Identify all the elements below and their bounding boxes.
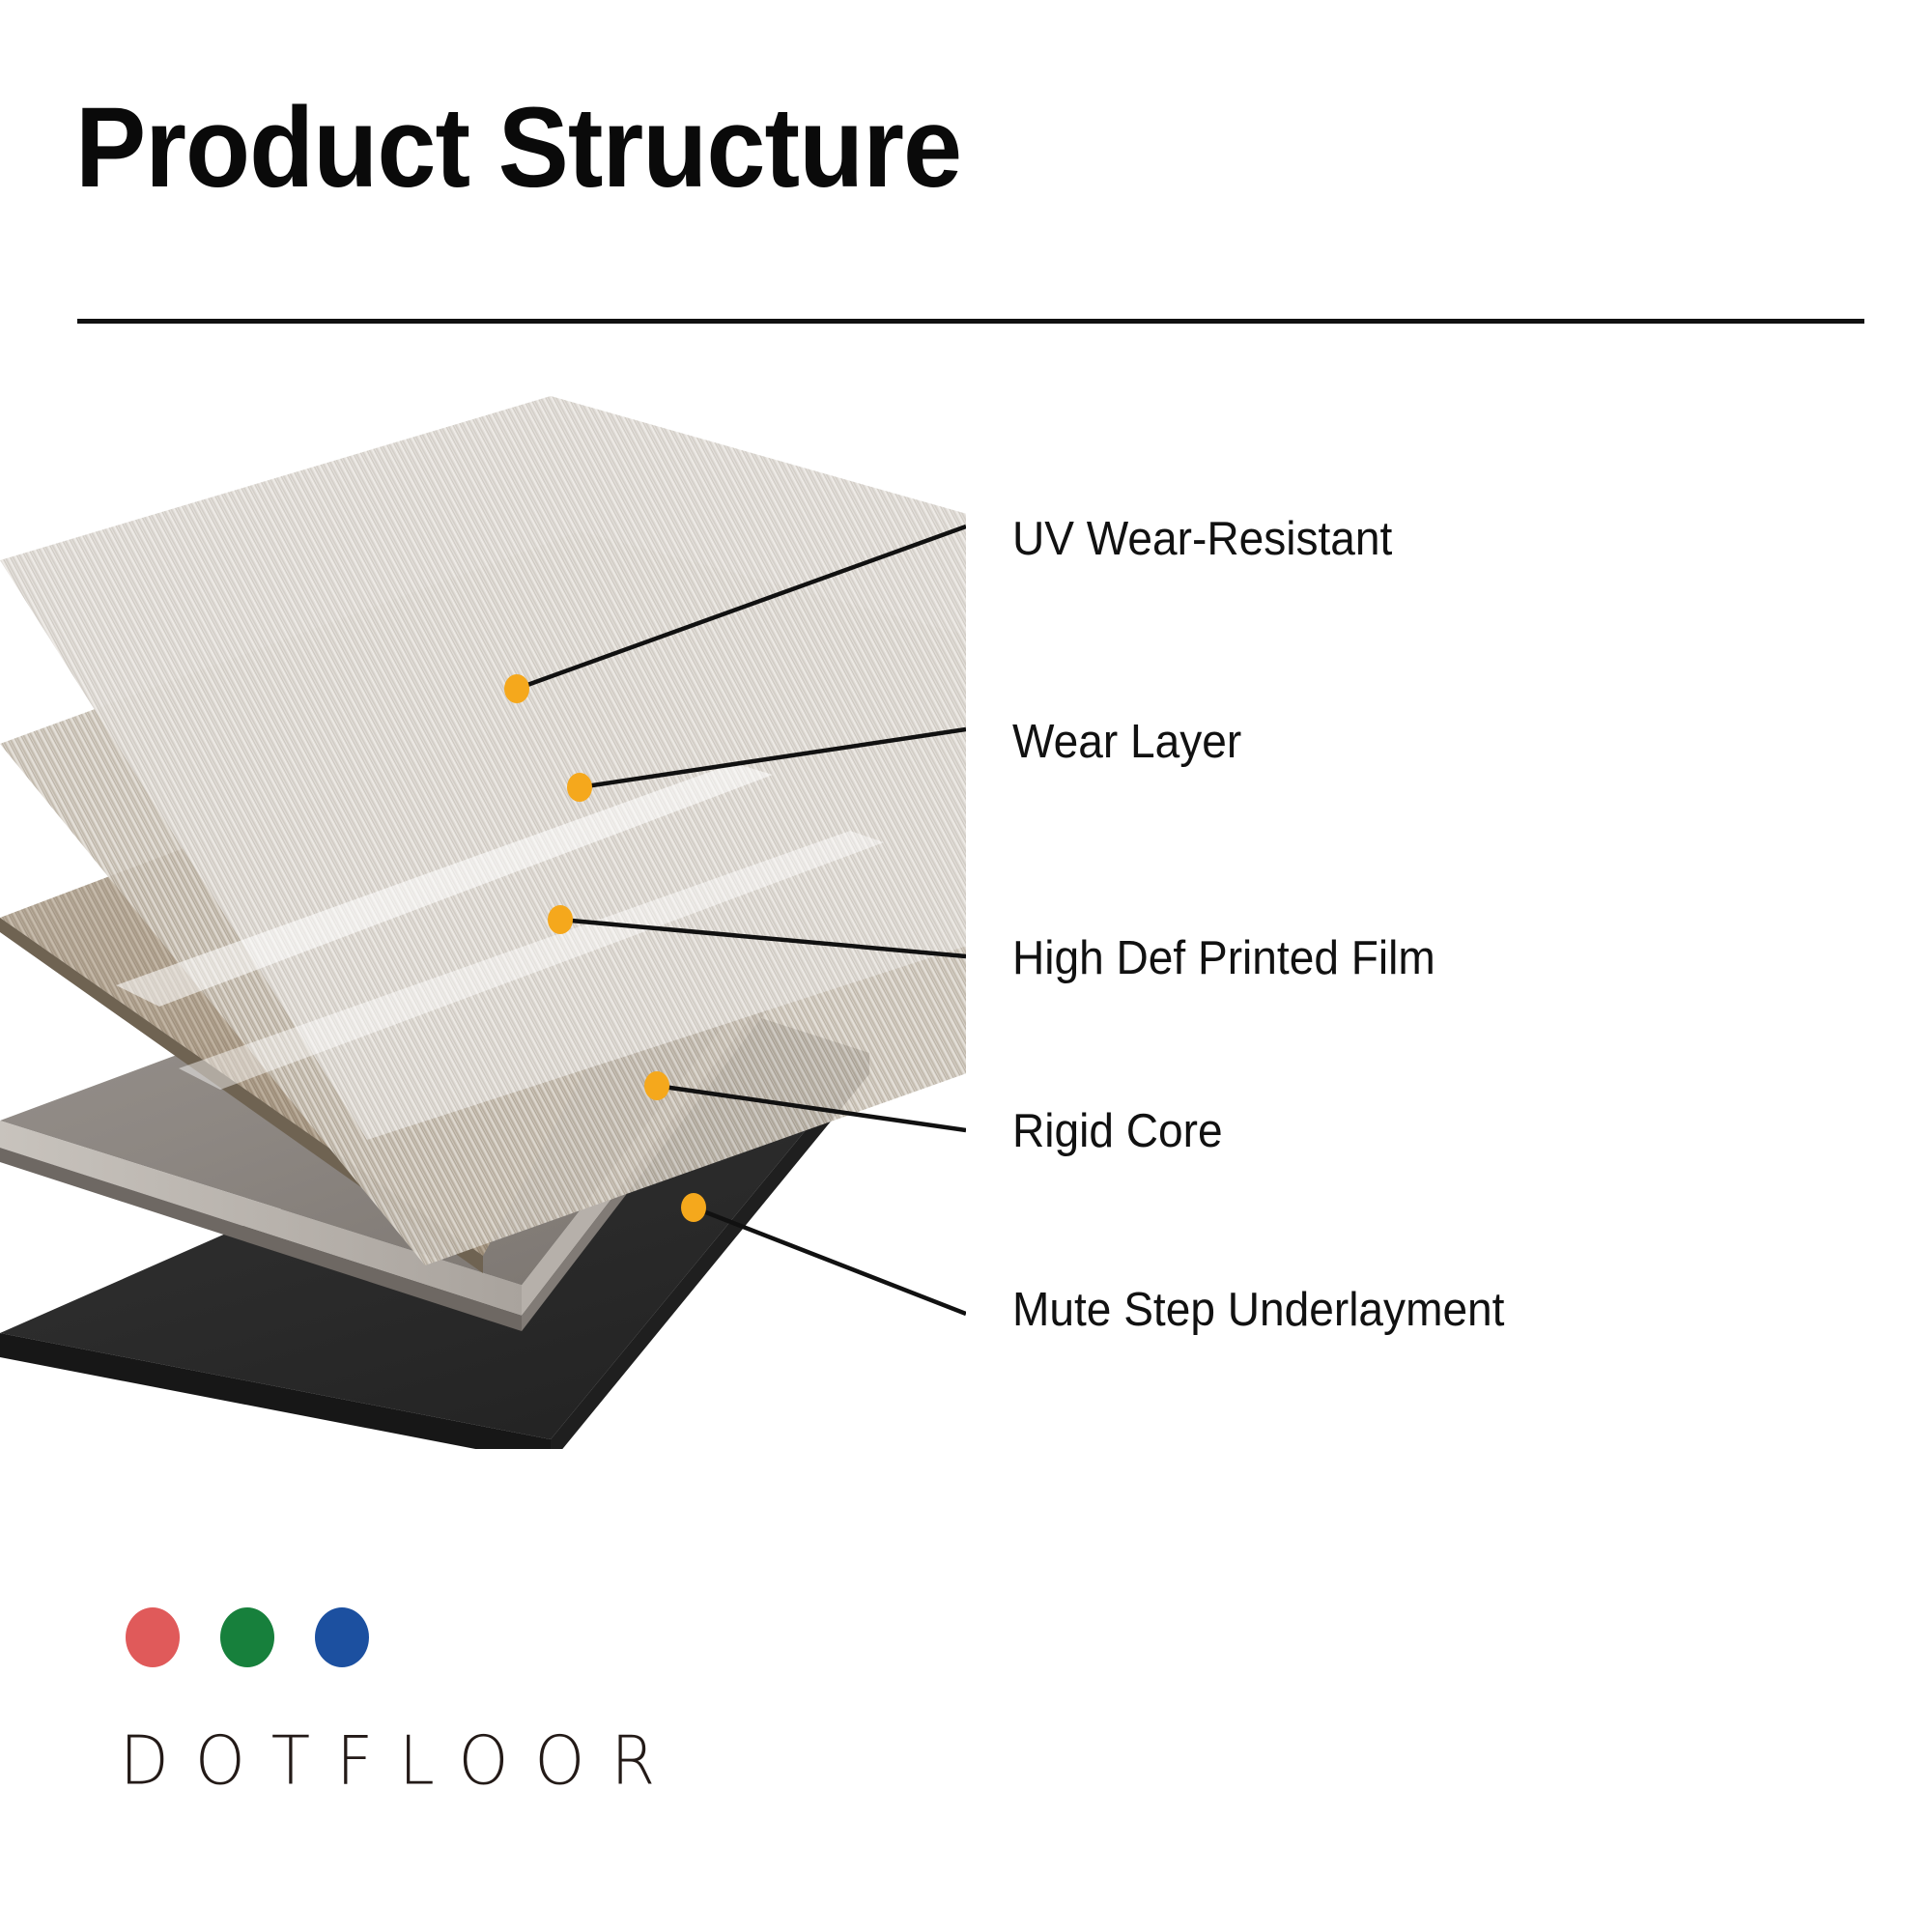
callout-label-mute-step-underlayment: Mute Step Underlayment — [1012, 1283, 1504, 1337]
brand-logo: DOTFLOOR — [120, 1607, 681, 1796]
logo-dot-blue-icon — [315, 1607, 369, 1667]
marker-dot-rigid-core — [644, 1071, 669, 1100]
marker-dot-high-def-printed-film — [548, 905, 573, 934]
product-structure-infographic: Product Structure — [0, 0, 1932, 1932]
marker-dot-mute-step-underlayment — [681, 1193, 706, 1222]
leader-line-mute-step-underlayment — [694, 1207, 966, 1314]
plank-stack-svg — [0, 290, 966, 1449]
marker-dot-wear-layer — [567, 773, 592, 802]
callout-label-uv-wear-resistant: UV Wear-Resistant — [1012, 512, 1392, 566]
callout-label-rigid-core: Rigid Core — [1012, 1104, 1223, 1158]
logo-dot-green-icon — [220, 1607, 274, 1667]
callout-label-high-def-printed-film: High Def Printed Film — [1012, 931, 1435, 985]
logo-dot-group — [126, 1607, 681, 1667]
logo-dot-red-icon — [126, 1607, 180, 1667]
page-title: Product Structure — [75, 89, 961, 209]
marker-dot-uv-wear-resistant — [504, 674, 529, 703]
callout-label-wear-layer: Wear Layer — [1012, 715, 1241, 769]
plank-layer-illustration — [0, 290, 966, 1449]
logo-wordmark: DOTFLOOR — [120, 1721, 681, 1801]
